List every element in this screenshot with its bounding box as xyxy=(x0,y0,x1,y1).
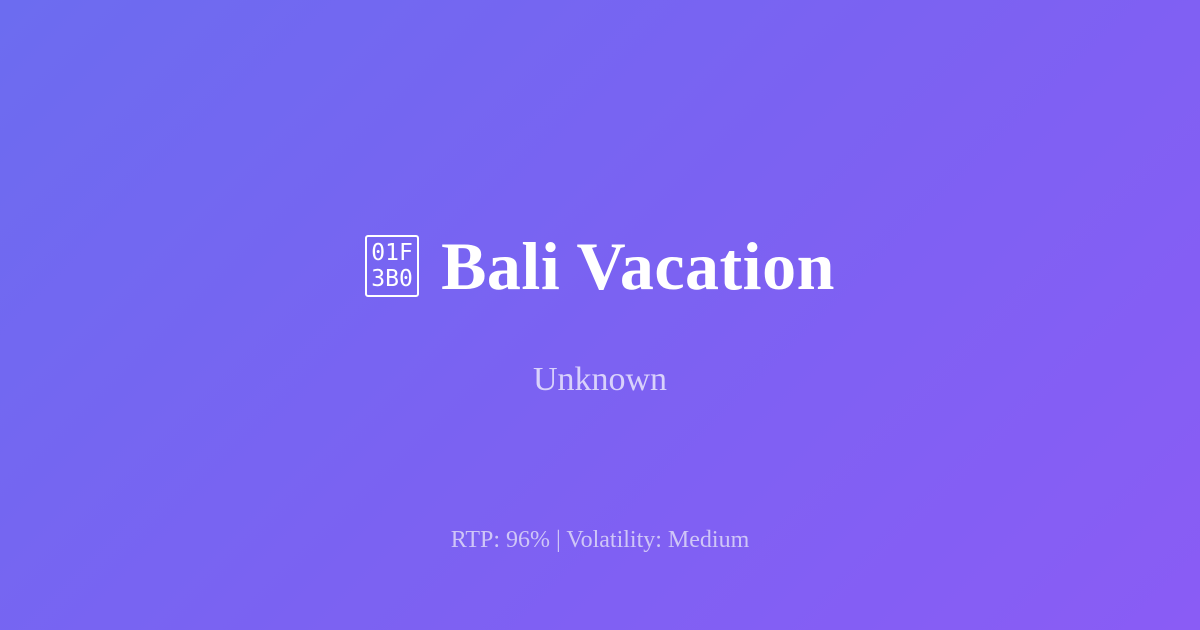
game-preview-card: 01F 3B0 Bali Vacation Unknown RTP: 96% |… xyxy=(0,0,1200,630)
page-title: Bali Vacation xyxy=(441,232,835,300)
game-stats-label: RTP: 96% | Volatility: Medium xyxy=(0,528,1200,552)
tofu-codepoint-line-1: 01F xyxy=(371,240,413,266)
title-row: 01F 3B0 Bali Vacation xyxy=(0,232,1200,300)
provider-label: Unknown xyxy=(0,363,1200,397)
missing-glyph-tofu-icon: 01F 3B0 xyxy=(365,235,419,297)
tofu-codepoint-line-2: 3B0 xyxy=(371,266,413,292)
